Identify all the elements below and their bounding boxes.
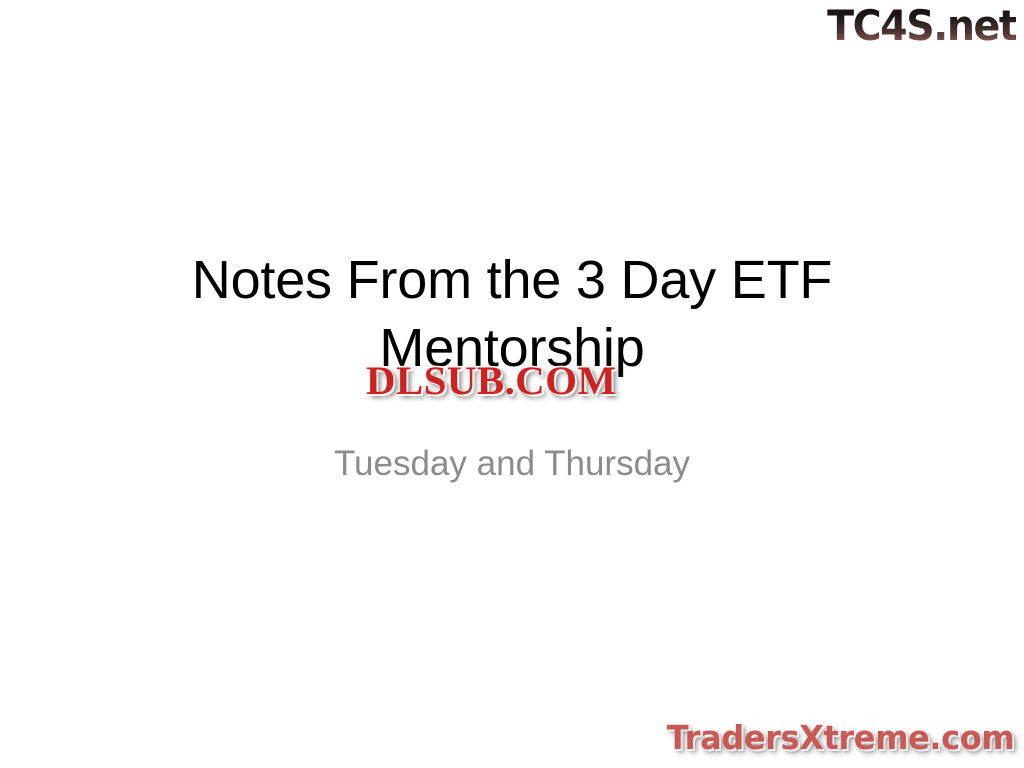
page-subtitle: Tuesday and Thursday bbox=[112, 442, 912, 486]
watermark-dlsub-com: DLSUB.COM bbox=[366, 358, 617, 404]
watermark-tc4s-net: TC4S.net bbox=[827, 2, 1016, 50]
presentation-slide: TC4S.net Notes From the 3 Day ETF Mentor… bbox=[0, 0, 1024, 768]
watermark-tradersxtreme-com: TradersXtreme.com bbox=[666, 718, 1014, 758]
subtitle-placeholder: Tuesday and Thursday bbox=[112, 442, 912, 486]
